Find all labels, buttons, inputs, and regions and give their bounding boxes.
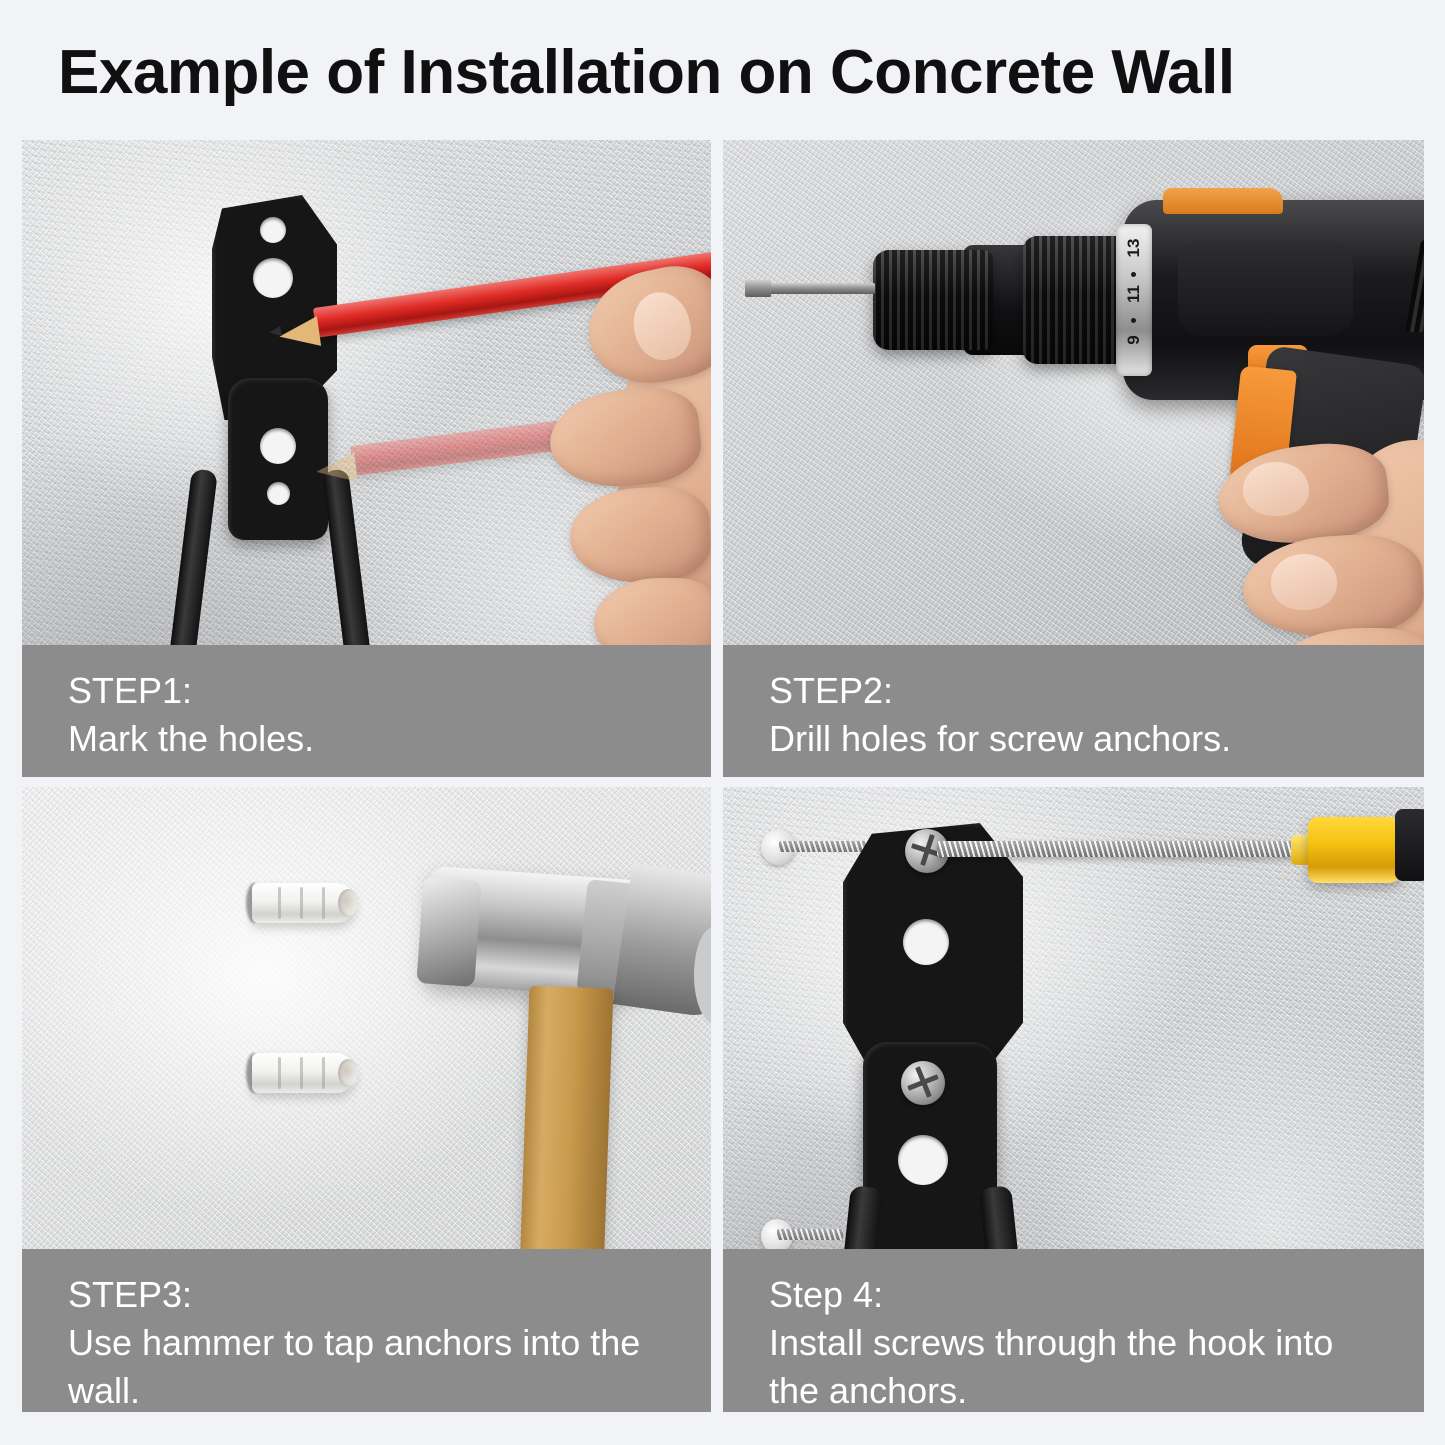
hook-hole-top [260,217,286,243]
step-panel-4: Step 4: Install screws through the hook … [723,787,1424,1412]
step-3-label: STEP3: [68,1271,711,1319]
step-2-text: Drill holes for screw anchors. [769,715,1369,763]
pencil-ghost-wood-tip [314,452,357,487]
torque-ring-number-11: 11 [1124,274,1144,314]
hook-hole-lower-small [267,482,290,505]
step-panel-3: STEP3: Use hammer to tap anchors into th… [22,787,711,1412]
anchor-rib [300,887,303,919]
screw-threads [779,841,875,852]
step-4-text: Install screws through the hook into the… [769,1319,1369,1412]
hook-hole-lower-large [898,1135,948,1185]
index-nail [1243,462,1309,516]
screwdriver-handle-end [1395,809,1424,881]
anchor-body [252,883,356,923]
step-3-caption: STEP3: Use hammer to tap anchors into th… [22,1249,711,1412]
anchor-rib [300,1057,303,1089]
drill-grip-pad [1178,240,1353,336]
hammer-striking-face [416,877,481,987]
step-panel-2: 13 11 9 STEP2: Drill holes for screw anc… [723,140,1424,777]
page-title: Example of Installation on Concrete Wall [58,32,1398,114]
step-2-label: STEP2: [769,667,1424,715]
drill-torque-ring: 13 11 9 [1116,224,1152,376]
anchor-rib [322,887,325,919]
step-3-text: Use hammer to tap anchors into the wall. [68,1319,668,1412]
screwdriver-shaft [937,841,1297,857]
step-1-label: STEP1: [68,667,711,715]
step-4-label: Step 4: [769,1271,1424,1319]
torque-ring-number-13: 13 [1124,228,1144,268]
drill-bit-tip [745,280,771,297]
pencil-lead [268,326,281,338]
step-1-text: Mark the holes. [68,715,668,763]
step-1-caption: STEP1: Mark the holes. [22,645,711,777]
hook-hole-lower-large [260,428,296,464]
screwdriver-handle [1308,817,1404,883]
middle-nail [1271,554,1337,610]
step-4-caption: Step 4: Install screws through the hook … [723,1249,1424,1412]
anchor-mouth [338,889,358,917]
hook-hole-upper-slot [253,258,293,298]
anchor-rib [322,1057,325,1089]
screw-threads [777,1229,843,1240]
step-panel-1: STEP1: Mark the holes. [22,140,711,777]
anchor-rib [278,1057,281,1089]
drill-top-accent [1163,188,1283,214]
drill-chuck [873,250,993,350]
anchor-body [252,1053,356,1093]
step-2-caption: STEP2: Drill holes for screw anchors. [723,645,1424,777]
torque-ring-number-9: 9 [1124,320,1144,360]
hook-hole-upper-large [903,919,949,965]
pencil-wood-tip [277,316,321,351]
anchor-rib [278,887,281,919]
anchor-mouth [338,1059,358,1087]
